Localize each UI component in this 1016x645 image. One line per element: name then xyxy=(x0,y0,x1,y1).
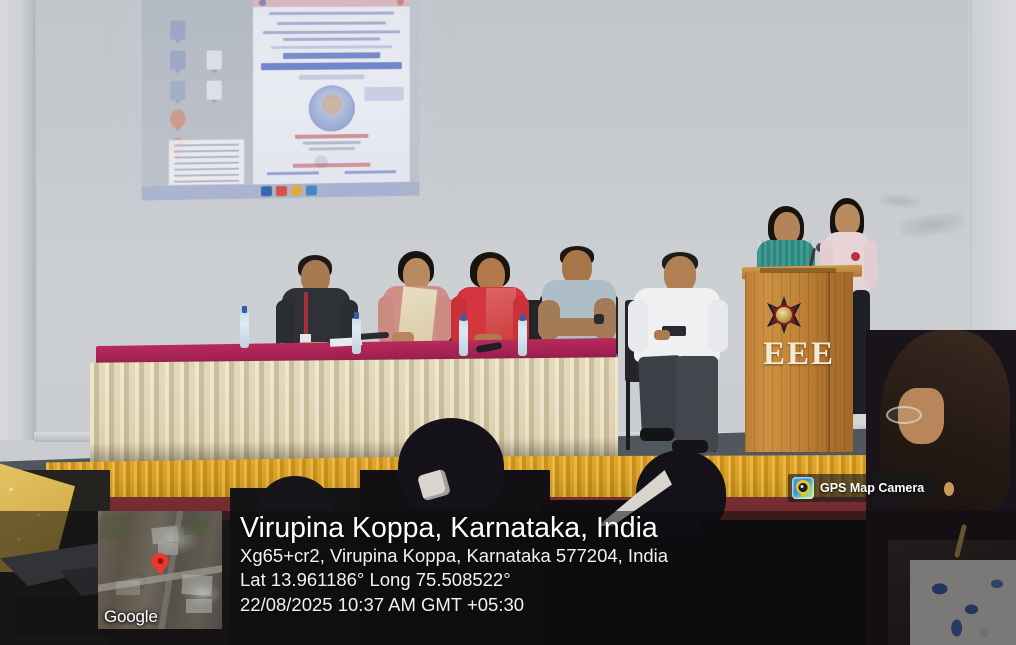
arm xyxy=(864,240,877,288)
desktop-icon xyxy=(207,50,222,69)
desktop-icon xyxy=(170,81,185,100)
water-bottle xyxy=(518,320,527,356)
map-building xyxy=(186,599,212,613)
desktop-icon xyxy=(170,20,185,39)
poster-text-line xyxy=(283,37,380,40)
water-bottle xyxy=(459,320,468,356)
projected-slide xyxy=(142,0,420,201)
poster-coordinator-name xyxy=(267,171,319,175)
poster-text-line xyxy=(271,45,392,48)
desktop-icon xyxy=(207,81,222,100)
wall-left-pillar xyxy=(0,0,34,440)
map-vegetation xyxy=(100,515,130,539)
audience-head xyxy=(398,418,504,516)
taskbar-icon xyxy=(276,186,287,196)
gps-map-camera-label: GPS Map Camera xyxy=(820,481,924,495)
gps-timestamp: 22/08/2025 10:37 AM GMT +05:30 xyxy=(240,593,668,617)
taskbar-item xyxy=(364,184,397,195)
poster-side-badge xyxy=(364,87,403,101)
poster-title-line1 xyxy=(283,52,380,59)
leg xyxy=(676,356,718,452)
projected-desktop xyxy=(142,0,253,186)
gps-address: Xg65+cr2, Virupina Koppa, Karnataka 5772… xyxy=(240,544,668,568)
poster-text-line xyxy=(263,30,400,33)
arm xyxy=(436,296,452,342)
podium-name-strip xyxy=(760,268,836,273)
hand xyxy=(654,330,670,340)
gps-map-camera-app-icon xyxy=(792,477,814,499)
poster-speaker-role xyxy=(303,141,361,144)
taskbar-item xyxy=(329,185,357,195)
gps-map-thumbnail[interactable]: Google xyxy=(98,511,222,629)
taskbar-icon xyxy=(291,186,302,196)
poster-text-line xyxy=(277,21,386,24)
map-vegetation xyxy=(184,517,208,535)
poster-coordinator-heading xyxy=(293,163,370,168)
projected-event-poster xyxy=(253,0,410,184)
earring xyxy=(944,482,954,496)
arm xyxy=(628,300,648,352)
poster-header-band xyxy=(253,0,410,7)
wall-left-edge xyxy=(33,0,37,440)
desktop-context-menu xyxy=(168,138,245,185)
desktop-icon xyxy=(170,109,185,128)
water-bottle xyxy=(240,312,249,348)
chair-leg xyxy=(626,378,630,450)
uniform-badge xyxy=(851,252,860,261)
poster-subtitle-chip xyxy=(299,74,364,80)
poster-title-line2 xyxy=(261,62,402,70)
arm xyxy=(708,300,728,352)
desktop-icon xyxy=(170,51,185,70)
poster-speaker-org xyxy=(309,147,355,150)
gps-text-block: Virupina Koppa, Karnataka, India Xg65+cr… xyxy=(240,511,668,617)
gps-overlay-content: Google Virupina Koppa, Karnataka, India … xyxy=(98,511,1016,631)
water-bottle xyxy=(352,318,361,354)
taskbar-icon xyxy=(306,185,317,195)
emblem-center-ring xyxy=(774,305,794,325)
eye-icon xyxy=(799,483,808,492)
map-provider-label: Google xyxy=(104,607,158,627)
poster-speaker-name xyxy=(295,134,368,139)
eyeglasses-icon xyxy=(886,406,922,424)
wristwatch xyxy=(594,314,604,324)
department-emblem-icon xyxy=(765,296,803,334)
poster-coordinator-name xyxy=(345,170,396,174)
podium-department-label: EEE xyxy=(745,336,853,373)
poster-text-line xyxy=(269,12,394,15)
map-pin-icon xyxy=(152,553,169,570)
lanyard xyxy=(304,292,308,336)
taskbar-icon xyxy=(261,186,272,196)
gps-map-camera-watermark: GPS Map Camera xyxy=(788,474,934,502)
shoe xyxy=(640,428,674,441)
gps-place-name: Virupina Koppa, Karnataka, India xyxy=(240,513,668,544)
photo-canvas: EEE GPS Map Camera xyxy=(0,0,1016,645)
head xyxy=(835,204,860,235)
poster-speaker-photo xyxy=(309,85,355,131)
gps-coordinates: Lat 13.961186° Long 75.508522° xyxy=(240,568,668,592)
